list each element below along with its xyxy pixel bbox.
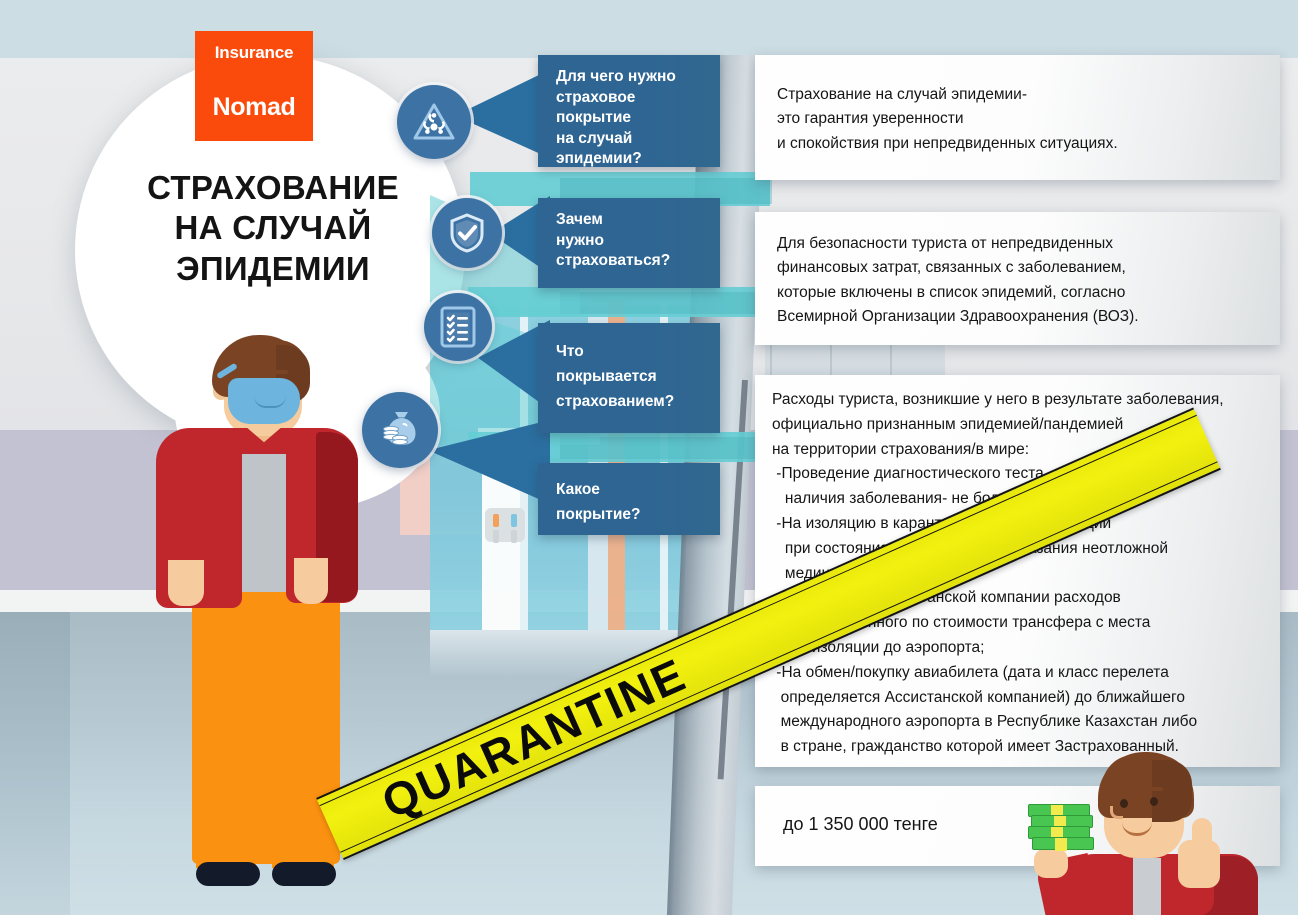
page-title: СТРАХОВАНИЕ НА СЛУЧАЙ ЭПИДЕМИИ — [88, 168, 458, 289]
brand-line-nomad: Nomad — [195, 93, 313, 122]
money-stack-icon — [1028, 804, 1090, 850]
man-leg-right — [272, 640, 334, 868]
storefront-sign — [485, 508, 525, 542]
title-line-3: ЭПИДЕМИИ — [88, 249, 458, 289]
checklist-icon[interactable] — [424, 293, 492, 361]
label-4-line-1: Какое — [556, 477, 706, 502]
money-man-thumb-up — [1192, 818, 1212, 852]
panel-1-line-2: это гарантия уверенности — [777, 107, 1280, 131]
infographic-poster: Insurance Nomad СТРАХОВАНИЕ НА СЛУЧАЙ ЭП… — [0, 0, 1298, 915]
section-label-3[interactable]: Что покрывается страхованием? — [538, 323, 720, 433]
panel-3-line-15: в стране, гражданство которой имеет Заст… — [772, 735, 1280, 760]
panel-2-line-1: Для безопасности туриста от непредвиденн… — [777, 232, 1280, 256]
title-line-2: НА СЛУЧАЙ — [88, 208, 458, 248]
section-label-1[interactable]: Для чего нужно страховое покрытие на слу… — [538, 55, 720, 167]
section-label-4[interactable]: Какое покрытие? — [538, 463, 720, 535]
label-2-line-2: нужно — [556, 231, 706, 252]
label-2-line-1: Зачем — [556, 210, 706, 231]
label-1-line-4: на случай — [556, 129, 706, 150]
man-brow-right — [272, 370, 288, 374]
money-man-shirt — [1133, 858, 1161, 915]
man-hand-right — [294, 558, 328, 604]
man-leg-left — [196, 640, 256, 868]
man-hand-left — [168, 560, 204, 606]
content-panel-1: Страхование на случай эпидемии- это гара… — [755, 55, 1280, 180]
sign-dot-1 — [493, 514, 499, 527]
connector-teal-2-shade — [560, 292, 772, 314]
brand-logo: Insurance Nomad — [195, 31, 313, 141]
label-1-line-5: эпидемии? — [556, 149, 706, 170]
panel-1-line-1: Страхование на случай эпидемии- — [777, 83, 1280, 107]
money-man-brow-right — [1146, 787, 1163, 791]
panel-3-line-13: определяется Ассистанской компанией) до … — [772, 686, 1280, 711]
background-ground-shadow — [0, 612, 70, 915]
money-man-hand-left — [1034, 848, 1068, 878]
panel-3-line-12: -На обмен/покупку авиабилета (дата и кла… — [772, 661, 1280, 686]
label-4-line-2: покрытие? — [556, 502, 706, 527]
panel-3-line-11: его изоляции до аэропорта; — [772, 636, 1280, 661]
label-3-line-1: Что — [556, 339, 706, 364]
man-brow-left — [242, 372, 258, 376]
money-bag-icon[interactable] — [362, 392, 438, 468]
panel-2-line-4: Всемирной Организации Здравоохранения (В… — [777, 305, 1280, 329]
label-3-line-2: покрывается — [556, 364, 706, 389]
panel-2-line-3: которые включены в список эпидемий, согл… — [777, 281, 1280, 305]
money-man-brow-left — [1116, 789, 1133, 793]
money-man-eye-right — [1150, 797, 1158, 806]
label-1-line-1: Для чего нужно — [556, 67, 706, 88]
content-panel-2: Для безопасности туриста от непредвиденн… — [755, 212, 1280, 345]
label-1-line-3: покрытие — [556, 108, 706, 129]
brand-line-insurance: Insurance — [195, 43, 313, 63]
man-shoe-left — [196, 862, 260, 886]
money-man-nose — [1110, 806, 1123, 819]
man-shoe-right — [272, 862, 336, 886]
panel-1-line-3: и спокойствия при непредвиденных ситуаци… — [777, 132, 1280, 156]
sign-dot-2 — [511, 514, 517, 527]
label-1-line-2: страховое — [556, 88, 706, 109]
panel-3-line-14: международного аэропорта в Республике Ка… — [772, 710, 1280, 735]
section-label-2[interactable]: Зачем нужно страховаться? — [538, 198, 720, 288]
sign-dot-3 — [493, 530, 499, 543]
label-3-line-3: страхованием? — [556, 389, 706, 414]
label-2-line-3: страховаться? — [556, 251, 706, 272]
shield-check-icon[interactable] — [432, 198, 502, 268]
sign-dot-4 — [511, 530, 517, 543]
biohazard-icon[interactable] — [397, 85, 471, 159]
panel-2-line-2: финансовых затрат, связанных с заболеван… — [777, 256, 1280, 280]
money-man-hair-side — [1152, 760, 1192, 822]
title-line-1: СТРАХОВАНИЕ — [88, 168, 458, 208]
